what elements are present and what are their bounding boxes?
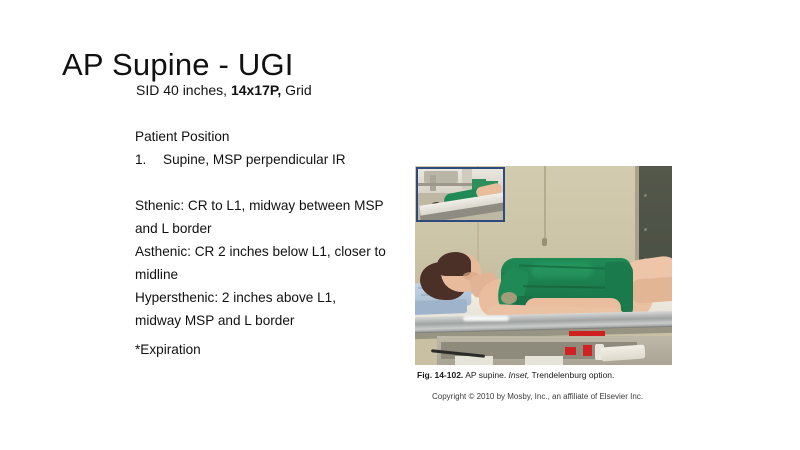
photo-red-button-1 xyxy=(565,347,576,355)
page-subtitle: SID 40 inches, 14x17P, Grid xyxy=(136,82,312,98)
inset-photo xyxy=(416,167,505,222)
subtitle-grid: Grid xyxy=(281,82,311,98)
list-item-label: Supine, MSP perpendicular IR xyxy=(163,148,346,171)
list-item: 1. Supine, MSP perpendicular IR xyxy=(135,148,435,171)
figure-caption: Fig. 14-102. AP supine. Inset, Trendelen… xyxy=(417,370,614,380)
figure-caption-text-2: Trendelenburg option. xyxy=(529,370,614,380)
patient-position-heading: Patient Position xyxy=(135,125,435,148)
habitus-line-asthenic-1: Asthenic: CR 2 inches below L1, closer t… xyxy=(135,240,435,263)
habitus-line-asthenic-2: midline xyxy=(135,263,435,286)
habitus-line-sthenic-1: Sthenic: CR to L1, midway between MSP xyxy=(135,194,435,217)
photo-red-indicator-bar xyxy=(569,331,605,336)
copyright-notice: Copyright © 2010 by Mosby, Inc., an affi… xyxy=(432,392,643,401)
photo-cord-end xyxy=(542,238,547,246)
subtitle-sid: SID 40 inches, xyxy=(136,82,231,98)
photo-patient-leg xyxy=(628,276,672,304)
list-item-number: 1. xyxy=(135,148,163,171)
habitus-line-sthenic-2: and L border xyxy=(135,217,435,240)
photo-pillow-lower xyxy=(415,299,467,315)
slide-canvas: AP Supine - UGI SID 40 inches, 14x17P, G… xyxy=(0,0,800,450)
expiration-note: *Expiration xyxy=(135,342,201,357)
photo-hanging-cord xyxy=(544,166,546,240)
figure-caption-inset-word: Inset, xyxy=(509,370,530,380)
photo-red-button-2 xyxy=(583,345,592,356)
spacer xyxy=(135,171,435,194)
page-title: AP Supine - UGI xyxy=(62,47,294,83)
figure-number: Fig. 14-102. xyxy=(417,370,463,380)
subtitle-cassette-size: 14x17P, xyxy=(231,82,281,98)
habitus-line-hypersthenic-1: Hypersthenic: 2 inches above L1, xyxy=(135,286,435,309)
body-text-block: Patient Position 1. Supine, MSP perpendi… xyxy=(135,125,435,332)
figure-caption-text-1: AP supine. xyxy=(463,370,508,380)
habitus-line-hypersthenic-2: midway MSP and L border xyxy=(135,309,435,332)
